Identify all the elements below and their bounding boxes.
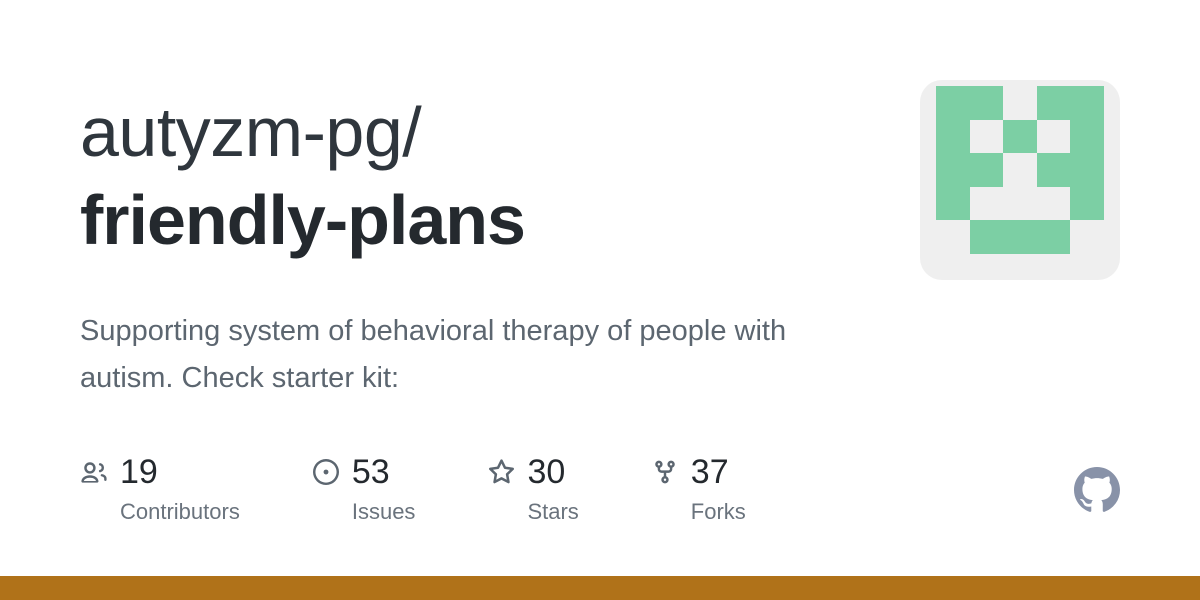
- identicon-cell-0-0: [936, 86, 970, 120]
- identicon-cell-3-0: [936, 187, 970, 221]
- identicon-cell-1-4: [1070, 120, 1104, 154]
- identicon-cell-1-1: [970, 120, 1004, 154]
- stat-issues: 53 Issues: [312, 452, 416, 523]
- identicon-cell-3-1: [970, 187, 1004, 221]
- identicon-cell-0-1: [970, 86, 1004, 120]
- identicon-cell-3-3: [1037, 187, 1071, 221]
- stat-forks-label: Forks: [691, 501, 746, 523]
- stat-forks: 37 Forks: [651, 452, 746, 523]
- stat-issues-label: Issues: [352, 501, 416, 523]
- stat-stars-label: Stars: [527, 501, 578, 523]
- identicon-cell-1-2: [1003, 120, 1037, 154]
- identicon-cell-1-3: [1037, 120, 1071, 154]
- identicon-cell-4-1: [970, 220, 1004, 254]
- repo-forked-icon: [651, 458, 679, 486]
- language-bar: [0, 576, 1200, 600]
- identicon-cell-1-0: [936, 120, 970, 154]
- stat-forks-value: 37: [691, 455, 729, 489]
- repository-owner: autyzm-pg/: [80, 88, 880, 178]
- stat-forks-top: 37: [651, 452, 729, 492]
- identicon-cell-4-3: [1037, 220, 1071, 254]
- stat-issues-top: 53: [312, 452, 390, 492]
- identicon-cell-2-2: [1003, 153, 1037, 187]
- page-title: autyzm-pg/ friendly-plans: [80, 88, 880, 265]
- identicon-cell-0-2: [1003, 86, 1037, 120]
- identicon-cell-3-2: [1003, 187, 1037, 221]
- stat-contributors-top: 19: [80, 452, 158, 492]
- stat-stars-top: 30: [487, 452, 565, 492]
- people-icon: [80, 458, 108, 486]
- issue-opened-icon: [312, 458, 340, 486]
- github-logo-icon: [1074, 467, 1120, 513]
- repository-stats: 19 Contributors 53 Issues: [80, 452, 746, 523]
- identicon-cell-4-4: [1070, 220, 1104, 254]
- identicon-cell-3-4: [1070, 187, 1104, 221]
- identicon-cell-2-0: [936, 153, 970, 187]
- identicon-cell-2-3: [1037, 153, 1071, 187]
- repository-description: Supporting system of behavioral therapy …: [80, 308, 860, 402]
- avatar: [920, 80, 1120, 280]
- star-icon: [487, 458, 515, 486]
- identicon-cell-2-1: [970, 153, 1004, 187]
- identicon-cell-0-4: [1070, 86, 1104, 120]
- identicon-grid: [936, 86, 1104, 254]
- repository-social-card: autyzm-pg/ friendly-plans Supporting sys…: [0, 0, 1200, 600]
- identicon-cell-4-0: [936, 220, 970, 254]
- identicon-cell-4-2: [1003, 220, 1037, 254]
- stat-contributors-label: Contributors: [120, 501, 240, 523]
- identicon-cell-0-3: [1037, 86, 1071, 120]
- stat-contributors-value: 19: [120, 455, 158, 489]
- repository-name: friendly-plans: [80, 176, 880, 266]
- identicon-cell-2-4: [1070, 153, 1104, 187]
- stat-stars-value: 30: [527, 455, 565, 489]
- stat-issues-value: 53: [352, 455, 390, 489]
- stat-stars: 30 Stars: [487, 452, 578, 523]
- stat-contributors: 19 Contributors: [80, 452, 240, 523]
